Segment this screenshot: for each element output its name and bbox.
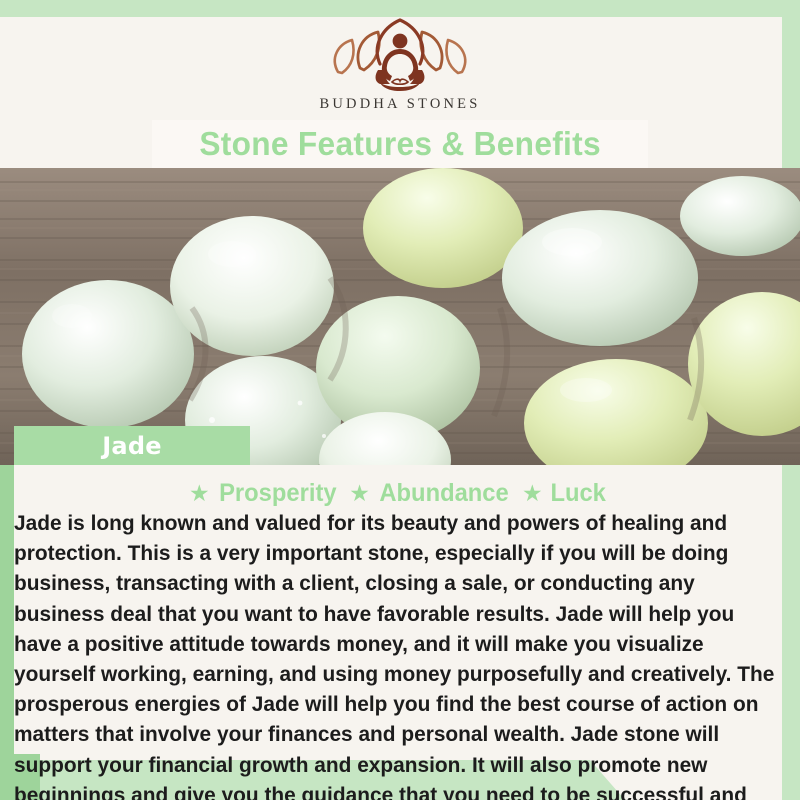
keyword-item-prosperity: ★ Prosperity	[189, 479, 339, 508]
keyword-label: Abundance	[379, 479, 508, 508]
stone-name-band: Jade	[14, 426, 250, 465]
stone-description: Jade is long known and valued for its be…	[14, 509, 774, 800]
title-band: Stone Features & Benefits	[152, 120, 648, 168]
stone-benefits-poster: BUDDHA STONES Stone Features & Benefits	[0, 0, 800, 800]
keyword-label: Luck	[550, 479, 605, 508]
star-icon: ★	[189, 482, 210, 505]
jade-stones-photo	[0, 168, 800, 465]
stone-name: Jade	[102, 432, 161, 460]
brand-logo: BUDDHA STONES	[0, 14, 800, 113]
star-icon: ★	[522, 482, 543, 505]
benefit-keywords: ★ Prosperity ★ Abundance ★ Luck	[14, 479, 782, 508]
keyword-item-luck: ★ Luck	[522, 479, 607, 508]
keyword-label: Prosperity	[219, 479, 336, 508]
lotus-meditation-icon	[0, 14, 800, 92]
page-title: Stone Features & Benefits	[199, 125, 601, 163]
star-icon: ★	[349, 482, 370, 505]
brand-wordmark: BUDDHA STONES	[0, 96, 800, 113]
keyword-item-abundance: ★ Abundance	[349, 479, 512, 508]
hero-image	[0, 168, 800, 465]
